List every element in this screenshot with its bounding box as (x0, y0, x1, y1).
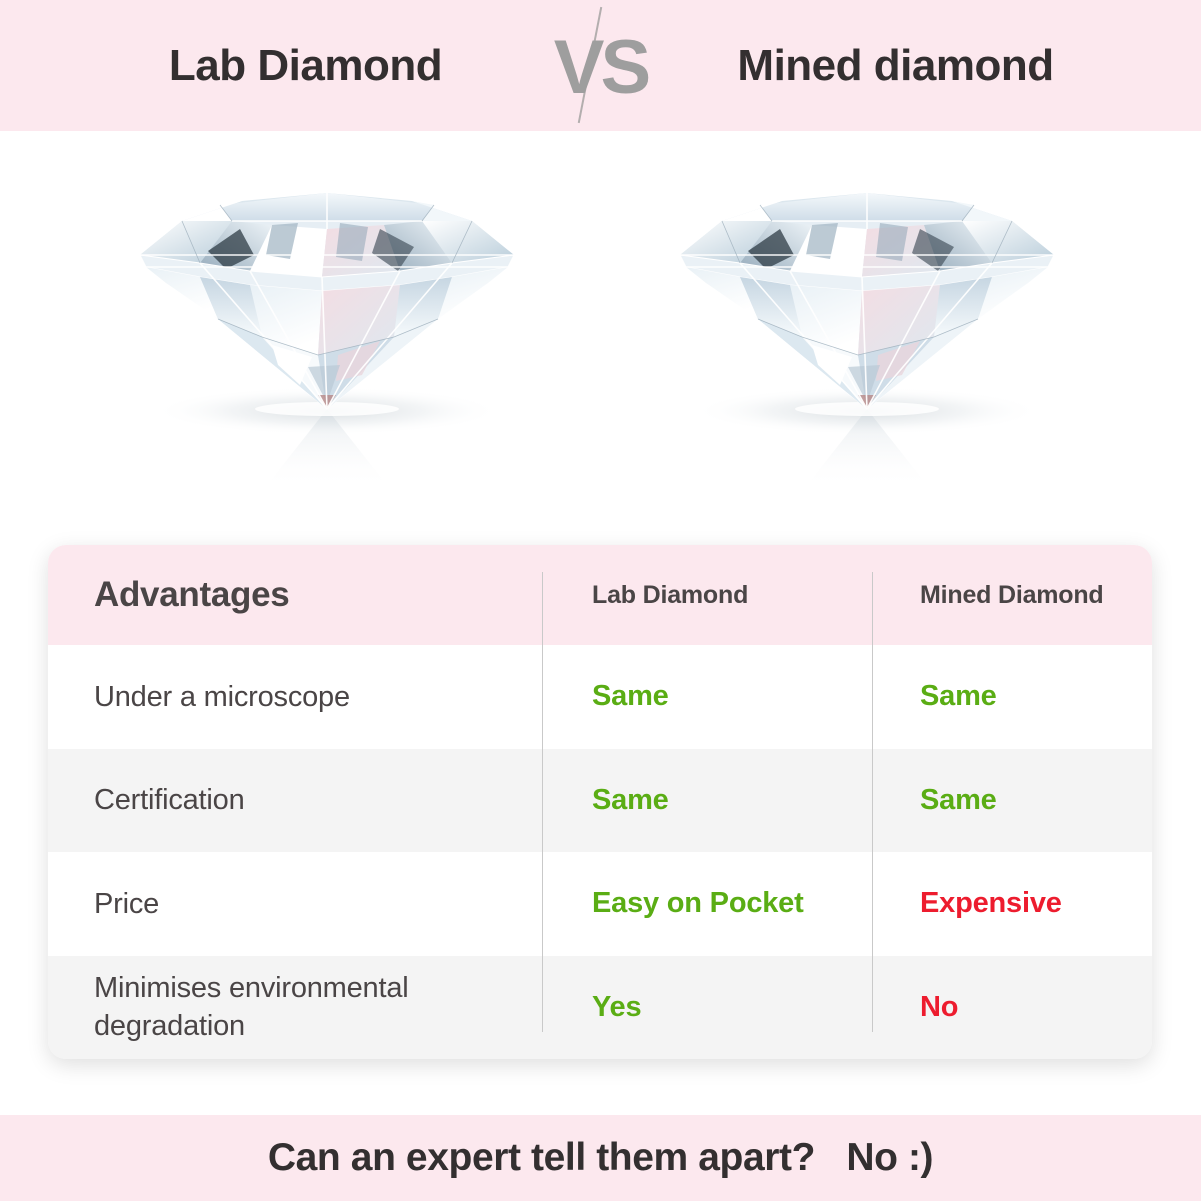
infographic-page: Lab Diamond VS Mined diamond (0, 0, 1201, 1201)
row-mined-value: Same (920, 784, 997, 816)
row-mined-value: Expensive (920, 887, 1062, 919)
row-feature-cell: Price (48, 885, 542, 923)
table-header-row: Advantages Lab Diamond Mined Diamond (48, 545, 1152, 645)
row-lab-cell: Same (542, 784, 872, 817)
header-band: Lab Diamond VS Mined diamond (0, 0, 1201, 131)
row-mined-value: Same (920, 680, 997, 712)
row-mined-cell: Same (872, 680, 1152, 713)
row-feature-label: Certification (94, 784, 245, 816)
header-mined-label: Mined Diamond (920, 581, 1104, 609)
footer-question: Can an expert tell them apart? No :) (268, 1136, 933, 1180)
header-cell-mined: Mined Diamond (872, 581, 1152, 610)
vs-badge: VS (541, 0, 661, 131)
row-lab-value: Same (592, 784, 669, 816)
row-lab-value: Easy on Pocket (592, 887, 804, 919)
header-title-lab: Lab Diamond (71, 41, 541, 91)
row-feature-label: Under a microscope (94, 681, 350, 713)
row-feature-cell: Certification (48, 781, 542, 819)
row-feature-label: Price (94, 888, 159, 920)
row-feature-label: Minimises environmental degradation (94, 972, 409, 1042)
footer-band: Can an expert tell them apart? No :) (0, 1115, 1201, 1201)
row-mined-cell: No (872, 991, 1152, 1024)
header-cell-lab: Lab Diamond (542, 581, 872, 610)
column-divider-1 (542, 572, 543, 1032)
lab-diamond-image (122, 159, 522, 489)
row-feature-cell: Under a microscope (48, 678, 542, 716)
row-mined-cell: Same (872, 784, 1152, 817)
mined-diamond-image (662, 159, 1062, 489)
row-mined-value: No (920, 991, 958, 1023)
row-lab-cell: Easy on Pocket (542, 887, 872, 920)
header-cell-advantages: Advantages (48, 575, 542, 615)
header-advantages-label: Advantages (94, 575, 289, 614)
diamond-stage (0, 131, 1201, 531)
diamond-illustration (662, 159, 1062, 489)
table-row: Certification Same Same (48, 749, 1152, 853)
table-row: Under a microscope Same Same (48, 645, 1152, 749)
diamond-illustration (122, 159, 522, 489)
comparison-table: Advantages Lab Diamond Mined Diamond Und… (48, 545, 1152, 1059)
row-feature-cell: Minimises environmental degradation (48, 969, 542, 1046)
row-lab-cell: Same (542, 680, 872, 713)
row-lab-value: Same (592, 680, 669, 712)
table-row: Price Easy on Pocket Expensive (48, 852, 1152, 956)
column-divider-2 (872, 572, 873, 1032)
row-mined-cell: Expensive (872, 887, 1152, 920)
row-lab-value: Yes (592, 991, 641, 1023)
header-title-mined: Mined diamond (661, 41, 1131, 91)
header-lab-label: Lab Diamond (592, 581, 748, 609)
row-lab-cell: Yes (542, 991, 872, 1024)
vs-label: VS (554, 30, 647, 106)
table-row: Minimises environmental degradation Yes … (48, 956, 1152, 1060)
